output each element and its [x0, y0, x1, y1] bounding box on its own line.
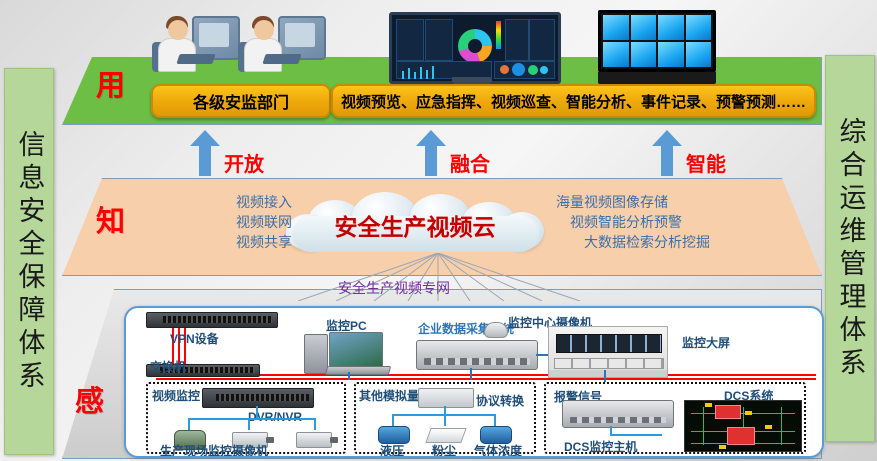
acq-uplink — [470, 368, 472, 380]
switch-label: 交换机 — [150, 358, 186, 375]
sidebar-information-security: 信息安全保障体系 — [4, 68, 54, 455]
private-network-label: 安全生产视频专网 — [338, 278, 450, 298]
monitoring-pc-label: 监控PC — [326, 317, 367, 334]
monitoring-pc-keyboard-icon — [325, 366, 392, 375]
protocol-converter-label: 协议转换 — [476, 392, 524, 409]
monitoring-pc-screen-icon — [329, 332, 383, 368]
dcs-system-screen — [684, 400, 802, 452]
layer-label-know: 知 — [96, 198, 125, 240]
cloud-left-line-1: 视频接入 — [142, 192, 292, 212]
dvr-nvr-icon — [202, 388, 314, 408]
vpn-device-icon — [146, 312, 278, 328]
up-arrow-fuse-icon — [416, 130, 446, 176]
analog-signal-title: 其他模拟量 — [359, 387, 419, 404]
analytics-dashboard-monitor-icon — [389, 12, 561, 84]
protocol-converter-icon — [418, 388, 474, 408]
monitor-stand-icon — [452, 77, 492, 84]
layer-label-use: 用 — [96, 62, 125, 104]
analog-signal-group: 其他模拟量 协议转换 液压 粉尘 气体浓度 — [354, 382, 536, 454]
site-cameras-label: 生产现场监控摄像机 — [160, 442, 268, 458]
architecture-diagram: 用 知 感 信息安全保障体系 综合运维管理体系 — [0, 0, 877, 461]
sidebar-right-label: 综合运维管理体系 — [837, 117, 864, 381]
dcs-group: 报警信号 DCS监控主机 DCS系统 — [544, 382, 806, 454]
arrow-label-open: 开放 — [224, 148, 264, 177]
dept-box[interactable]: 各级安监部门 — [151, 84, 331, 118]
video-surveillance-title: 视频监控 — [152, 387, 200, 404]
functions-box[interactable]: 视频预览、应急指挥、视频巡查、智能分析、事件记录、预警预测…… — [331, 84, 816, 118]
layer-label-sense: 感 — [75, 378, 104, 420]
up-arrow-open-icon — [190, 130, 220, 176]
dust-sensor-icon — [425, 428, 466, 443]
console-uplink — [604, 370, 606, 382]
gas-concentration-label: 气体浓度 — [474, 442, 522, 458]
dust-label: 粉尘 — [432, 442, 456, 458]
monitoring-pc-tower-icon — [304, 334, 328, 374]
cloud-right-text: 海量视频图像存储 视频智能分析预警 大数据检索分析挖掘 — [556, 192, 756, 252]
video-wall-base-icon — [598, 72, 716, 84]
cloud-left-line-3: 视频共享 — [142, 232, 292, 252]
operator-at-computer-icon — [238, 6, 324, 78]
monitoring-video-wall-label: 监控大屏 — [682, 334, 730, 351]
box-camera-icon — [296, 432, 332, 448]
sense-layer-card: VPN设备 交换机 监控PC 企业数据采集系统 监控中心摄像机 监控大屏 视频监… — [124, 306, 824, 458]
data-acquisition-box-icon — [416, 340, 538, 370]
arrow-label-smart: 智能 — [686, 148, 726, 177]
cloud-right-line-1: 海量视频图像存储 — [556, 192, 756, 212]
up-arrow-smart-icon — [652, 130, 682, 176]
sidebar-operations-management: 综合运维管理体系 — [825, 55, 875, 442]
dcs-host-label: DCS监控主机 — [564, 438, 637, 455]
cloud-title: 安全生产视频云 — [286, 208, 544, 242]
sidebar-left-label: 信息安全保障体系 — [16, 130, 43, 394]
monitoring-console-image — [548, 326, 668, 378]
cloud-right-line-3: 大数据检索分析挖掘 — [556, 232, 756, 252]
control-center-camera-icon — [484, 322, 508, 338]
hydraulic-label: 液压 — [380, 442, 404, 458]
vpn-device-label: VPN设备 — [170, 330, 219, 347]
video-surveillance-group: 视频监控 DVR/NVR 生产现场监控摄像机 — [146, 382, 346, 454]
operator-at-computer-icon — [152, 6, 238, 78]
cloud-left-line-2: 视频联网 — [142, 212, 292, 232]
arrow-label-fuse: 融合 — [450, 148, 490, 177]
cloud-right-line-2: 视频智能分析预警 — [556, 212, 756, 232]
video-wall-icon — [598, 10, 716, 72]
cloud-left-text: 视频接入 视频联网 视频共享 — [142, 192, 292, 252]
pc-uplink — [348, 372, 350, 380]
dcs-host-icon — [562, 400, 674, 428]
